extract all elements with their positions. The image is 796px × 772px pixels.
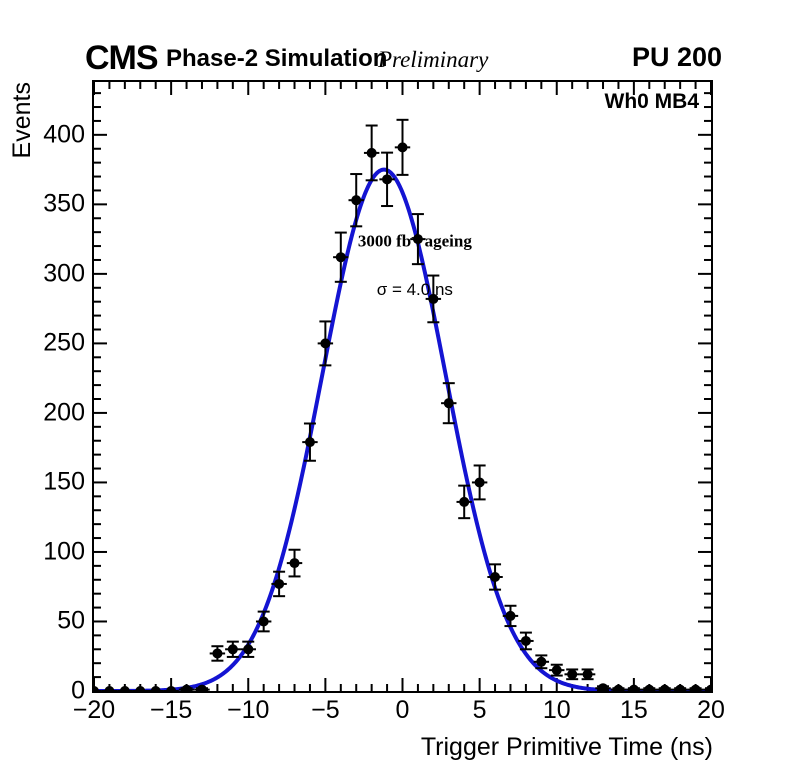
y-tick-label: 300 — [43, 259, 85, 288]
cms-logo-text: CMS — [85, 41, 158, 75]
x-tick-label: 10 — [543, 696, 571, 725]
simulation-label: Phase-2 Simulation — [166, 47, 387, 71]
x-tick-label: −10 — [227, 696, 269, 725]
lumi-value: 3000 fb — [358, 232, 411, 251]
x-axis-title: Trigger Primitive Time (ns) — [421, 733, 713, 762]
x-tick-label: 15 — [620, 696, 648, 725]
lumi-exponent: -1 — [411, 231, 420, 243]
sigma-annotation: σ = 4.0 ns — [377, 280, 453, 300]
y-tick-label: 100 — [43, 537, 85, 566]
y-tick-label: 0 — [71, 677, 85, 706]
chamber-label: Wh0 MB4 — [605, 90, 700, 114]
preliminary-label: Preliminary — [378, 48, 488, 71]
plot-frame: Wh0 MB4 3000 fb-1 ageing σ = 4.0 ns — [92, 80, 713, 693]
x-tick-label: −15 — [150, 696, 192, 725]
y-axis-title: Events — [8, 82, 37, 158]
y-tick-label: 150 — [43, 468, 85, 497]
plot-graphics — [94, 82, 711, 691]
y-tick-label: 250 — [43, 329, 85, 358]
y-tick-label: 200 — [43, 398, 85, 427]
y-tick-label: 50 — [57, 607, 85, 636]
y-tick-label: 350 — [43, 190, 85, 219]
x-tick-label: −5 — [311, 696, 340, 725]
luminosity-annotation: 3000 fb-1 ageing — [358, 231, 472, 252]
plot-header: CMS Phase-2 Simulation Preliminary PU 20… — [0, 0, 796, 80]
y-tick-label: 400 — [43, 120, 85, 149]
x-tick-label: 20 — [697, 696, 725, 725]
pileup-label: PU 200 — [632, 44, 722, 71]
x-tick-label: 5 — [473, 696, 487, 725]
x-tick-label: 0 — [396, 696, 410, 725]
lumi-suffix: ageing — [420, 232, 471, 251]
plot-canvas: CMS Phase-2 Simulation Preliminary PU 20… — [0, 0, 796, 772]
